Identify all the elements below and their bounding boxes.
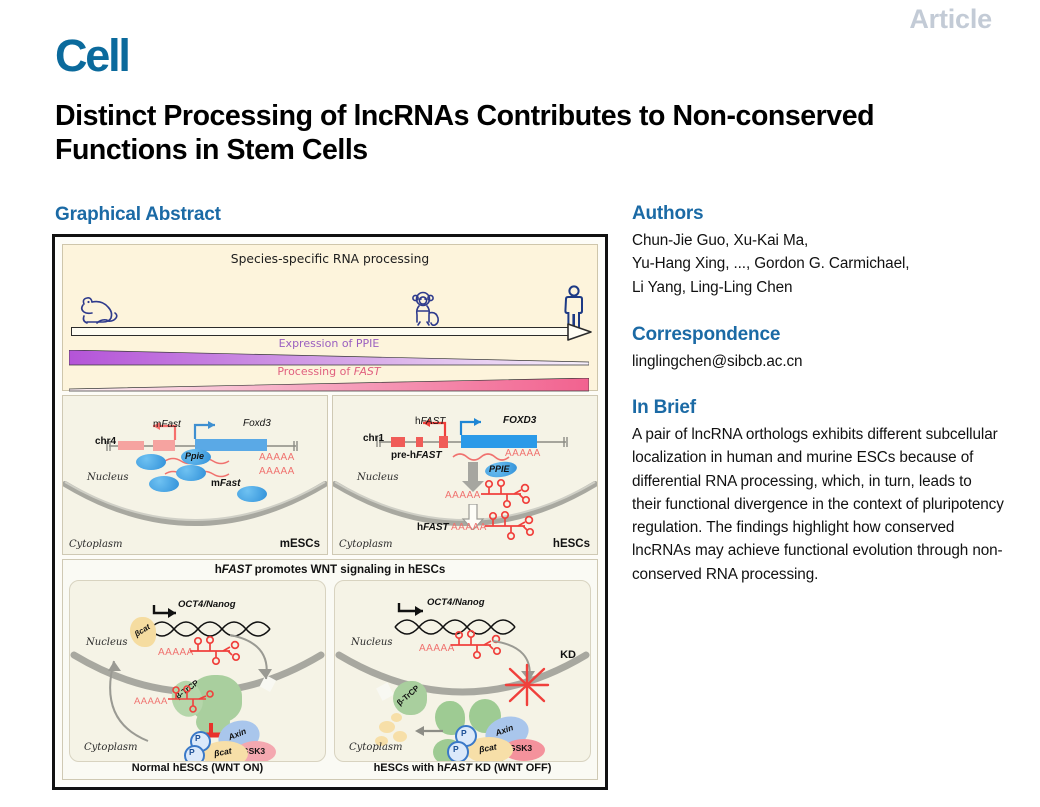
hfast-product-label: hFAST bbox=[417, 522, 449, 533]
authors-line-2: Yu-Hang Xing, ..., Gordon G. Carmichael, bbox=[632, 252, 1004, 275]
wnt-on-caption: Normal hESCs (WNT ON) bbox=[69, 762, 326, 774]
fast-gradient-label-row: Processing of FAST bbox=[69, 365, 589, 379]
mouse-chromosome-label: chr4 bbox=[95, 436, 116, 447]
cytoplasm-label: Cytoplasm bbox=[84, 742, 138, 753]
target-gene-label: OCT4/Nanog bbox=[178, 599, 236, 610]
polyA-tail-label: AAAAA bbox=[259, 452, 295, 463]
structured-rna-icon bbox=[485, 510, 537, 540]
ppie-protein-label: Ppie bbox=[185, 451, 204, 461]
cytoplasm-label: Cytoplasm bbox=[339, 539, 393, 550]
esc-comparison-row: chr4 mFast Foxd3 AAAAA AAAAA mFast Ppie bbox=[62, 395, 598, 555]
polyA-tail-label: AAAAA bbox=[445, 490, 481, 501]
in-brief-heading: In Brief bbox=[632, 397, 1004, 419]
cytoplasm-label: Cytoplasm bbox=[69, 539, 123, 550]
mesc-corner-label: mESCs bbox=[280, 538, 320, 550]
correspondence-email[interactable]: linglingchen@sibcb.ac.cn bbox=[632, 350, 1004, 373]
mfast-gene-label: mFast bbox=[153, 419, 181, 430]
figure-inner: Species-specific RNA processing bbox=[58, 240, 602, 784]
phospho-label: P bbox=[453, 744, 459, 754]
authors-heading: Authors bbox=[632, 203, 1004, 225]
foxd3-gene-label: Foxd3 bbox=[243, 418, 271, 429]
cytoplasm-label: Cytoplasm bbox=[349, 742, 403, 753]
in-brief-block: In Brief A pair of lncRNA orthologs exhi… bbox=[632, 397, 1004, 586]
nucleus-label: Nucleus bbox=[86, 637, 127, 648]
ppie-protein-blob bbox=[136, 454, 166, 470]
wnt-on-cell-body: OCT4/Nanog βcat AAAAA bbox=[69, 580, 326, 762]
species-axis-arrow bbox=[71, 327, 571, 336]
nucleus-label: Nucleus bbox=[87, 472, 128, 483]
species-band: Species-specific RNA processing bbox=[62, 244, 598, 391]
knockdown-burst-icon bbox=[504, 663, 550, 707]
polyA-tail-label: AAAAA bbox=[419, 643, 455, 654]
fast-gradient-wedge bbox=[69, 378, 589, 393]
phospho-label: P bbox=[189, 747, 195, 757]
hesc-panel: chr1 hFAST FOXD3 pre-hFAST AAAAA PPIE bbox=[332, 395, 598, 555]
polyA-tail-label: AAAAA bbox=[505, 448, 541, 459]
monkey-icon bbox=[408, 289, 448, 329]
authors-list: Chun-Jie Guo, Xu-Kai Ma, Yu-Hang Xing, .… bbox=[632, 229, 1004, 299]
spacer bbox=[632, 303, 1004, 324]
fast-gradient-label: Processing of FAST bbox=[69, 365, 589, 378]
human-chromosome-label: chr1 bbox=[363, 433, 384, 444]
page-root: Article Cell Distinct Processing of lncR… bbox=[0, 0, 1040, 807]
correspondence-heading: Correspondence bbox=[632, 324, 1004, 346]
wnt-panel-title: hFAST promotes WNT signaling in hESCs bbox=[63, 563, 597, 576]
ppie-gradient-wedge bbox=[69, 350, 589, 366]
cell-journal-logo: Cell bbox=[55, 33, 129, 78]
polyA-tail-label: AAAAA bbox=[134, 696, 168, 707]
mouse-icon bbox=[77, 293, 121, 327]
degraded-fragment bbox=[393, 731, 407, 742]
degraded-fragment bbox=[391, 713, 402, 722]
spacer bbox=[632, 377, 1004, 397]
ppie-protein-label: PPIE bbox=[489, 464, 510, 474]
wnt-off-caption: hESCs with hFAST KD (WNT OFF) bbox=[334, 762, 591, 774]
ppie-protein-blob bbox=[176, 465, 206, 481]
graphical-abstract-figure: Species-specific RNA processing bbox=[52, 234, 608, 790]
pre-hfast-label: pre-hFAST bbox=[391, 450, 442, 461]
page-title: Distinct Processing of lncRNAs Contribut… bbox=[55, 100, 980, 167]
authors-block: Authors Chun-Jie Guo, Xu-Kai Ma, Yu-Hang… bbox=[632, 203, 1004, 299]
degraded-fragment bbox=[379, 721, 395, 733]
target-gene-label: OCT4/Nanog bbox=[427, 597, 485, 608]
article-type-kicker: Article bbox=[909, 4, 992, 35]
hesc-corner-label: hESCs bbox=[553, 538, 590, 550]
right-column: Authors Chun-Jie Guo, Xu-Kai Ma, Yu-Hang… bbox=[632, 203, 1004, 590]
species-band-title: Species-specific RNA processing bbox=[63, 252, 597, 266]
wnt-off-cell-body: OCT4/Nanog AAAAA bbox=[334, 580, 591, 762]
ppie-protein-blob bbox=[149, 476, 179, 492]
wnt-off-cell: OCT4/Nanog AAAAA bbox=[334, 580, 591, 775]
structured-rna-icon bbox=[168, 685, 222, 713]
hfast-gene-label: hFAST bbox=[415, 416, 445, 427]
ppie-gradient-label: Expression of PPIE bbox=[69, 337, 589, 350]
wnt-comparison-row: OCT4/Nanog βcat AAAAA bbox=[69, 580, 591, 775]
polyA-tail-label: AAAAA bbox=[259, 466, 295, 477]
nucleus-label: Nucleus bbox=[351, 637, 392, 648]
nuclear-envelope-icon bbox=[63, 476, 327, 546]
ppie-gradient-label-row: Expression of PPIE bbox=[69, 337, 589, 351]
mfast-transcript-label: mFast bbox=[211, 478, 240, 489]
wnt-on-cell: OCT4/Nanog βcat AAAAA bbox=[69, 580, 326, 775]
knockdown-label: KD bbox=[560, 649, 576, 661]
phospho-label: P bbox=[195, 733, 201, 743]
phospho-label: P bbox=[461, 728, 467, 738]
polyA-tail-label: AAAAA bbox=[451, 522, 487, 533]
foxd3-gene-label: FOXD3 bbox=[503, 415, 536, 426]
authors-line-1: Chun-Jie Guo, Xu-Kai Ma, bbox=[632, 229, 1004, 252]
ppie-protein-blob bbox=[237, 486, 267, 502]
degradation-arrow-icon bbox=[411, 723, 445, 739]
nucleus-label: Nucleus bbox=[357, 472, 398, 483]
graphical-abstract-heading: Graphical Abstract bbox=[55, 204, 221, 226]
wnt-signaling-panel: hFAST promotes WNT signaling in hESCs bbox=[62, 559, 598, 780]
mesc-panel: chr4 mFast Foxd3 AAAAA AAAAA mFast Ppie bbox=[62, 395, 328, 555]
structured-rna-icon bbox=[481, 478, 533, 508]
correspondence-block: Correspondence linglingchen@sibcb.ac.cn bbox=[632, 324, 1004, 373]
in-brief-text: A pair of lncRNA orthologs exhibits diff… bbox=[632, 423, 1004, 586]
authors-line-3: Li Yang, Ling-Ling Chen bbox=[632, 276, 1004, 299]
